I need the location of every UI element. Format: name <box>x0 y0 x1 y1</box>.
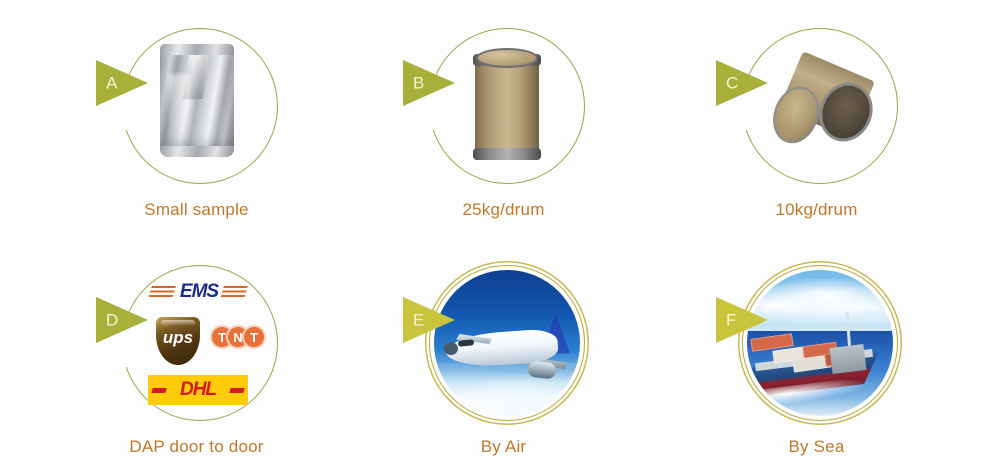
foil-pouch-icon <box>160 44 234 157</box>
dhl-logo-icon: DHL <box>148 375 248 405</box>
caption-a: Small sample <box>30 200 363 220</box>
marker-arrow-b: B <box>403 60 455 106</box>
marker-letter-d: D <box>106 312 118 329</box>
ups-logo-icon: ups <box>156 317 200 365</box>
ems-logo-icon: EMS <box>150 281 246 305</box>
packaging-item-f[interactable]: F By Sea <box>650 237 983 473</box>
caption-c: 10kg/drum <box>650 200 983 220</box>
ems-logo-text: EMS <box>172 281 226 303</box>
packaging-item-a[interactable]: A Small sample <box>30 0 363 236</box>
ring-f <box>742 265 898 421</box>
marker-arrow-e: E <box>403 297 455 343</box>
ring-a <box>122 28 278 184</box>
triangle-icon <box>96 60 148 106</box>
packaging-and-shipping-board: A Small sample B 25kg/drum <box>0 0 1000 473</box>
cardboard-drum-icon <box>473 48 541 160</box>
ring-circle-e <box>429 265 585 421</box>
courier-logo-group: EMS ups T N T DHL <box>122 265 278 421</box>
triangle-icon <box>403 297 455 343</box>
dhl-logo-text: DHL <box>148 379 248 400</box>
marker-arrow-a: A <box>96 60 148 106</box>
ring-d: EMS ups T N T DHL <box>122 265 278 421</box>
packaging-item-d[interactable]: EMS ups T N T DHL D <box>30 237 363 473</box>
marker-arrow-f: F <box>716 297 768 343</box>
tipped-drum-icon <box>764 56 876 152</box>
ring-c <box>742 28 898 184</box>
caption-f: By Sea <box>650 437 983 457</box>
tnt-logo-icon: T N T <box>210 325 266 351</box>
marker-letter-a: A <box>106 75 117 92</box>
caption-b: 25kg/drum <box>337 200 670 220</box>
triangle-icon <box>403 60 455 106</box>
marker-arrow-d: D <box>96 297 148 343</box>
packaging-item-e[interactable]: E By Air <box>337 237 670 473</box>
triangle-icon <box>716 60 768 106</box>
caption-e: By Air <box>337 437 670 457</box>
ring-e <box>429 265 585 421</box>
ring-circle-f <box>742 265 898 421</box>
triangle-icon <box>716 297 768 343</box>
ups-logo-text: ups <box>156 329 200 346</box>
marker-letter-e: E <box>413 312 424 329</box>
tnt-letter-3: T <box>242 325 266 349</box>
ring-b <box>429 28 585 184</box>
marker-letter-c: C <box>726 75 738 92</box>
marker-letter-b: B <box>413 75 424 92</box>
triangle-icon <box>96 297 148 343</box>
marker-arrow-c: C <box>716 60 768 106</box>
packaging-item-b[interactable]: B 25kg/drum <box>337 0 670 236</box>
packaging-item-c[interactable]: C 10kg/drum <box>650 0 983 236</box>
caption-d: DAP door to door <box>30 437 363 457</box>
marker-letter-f: F <box>726 312 736 329</box>
